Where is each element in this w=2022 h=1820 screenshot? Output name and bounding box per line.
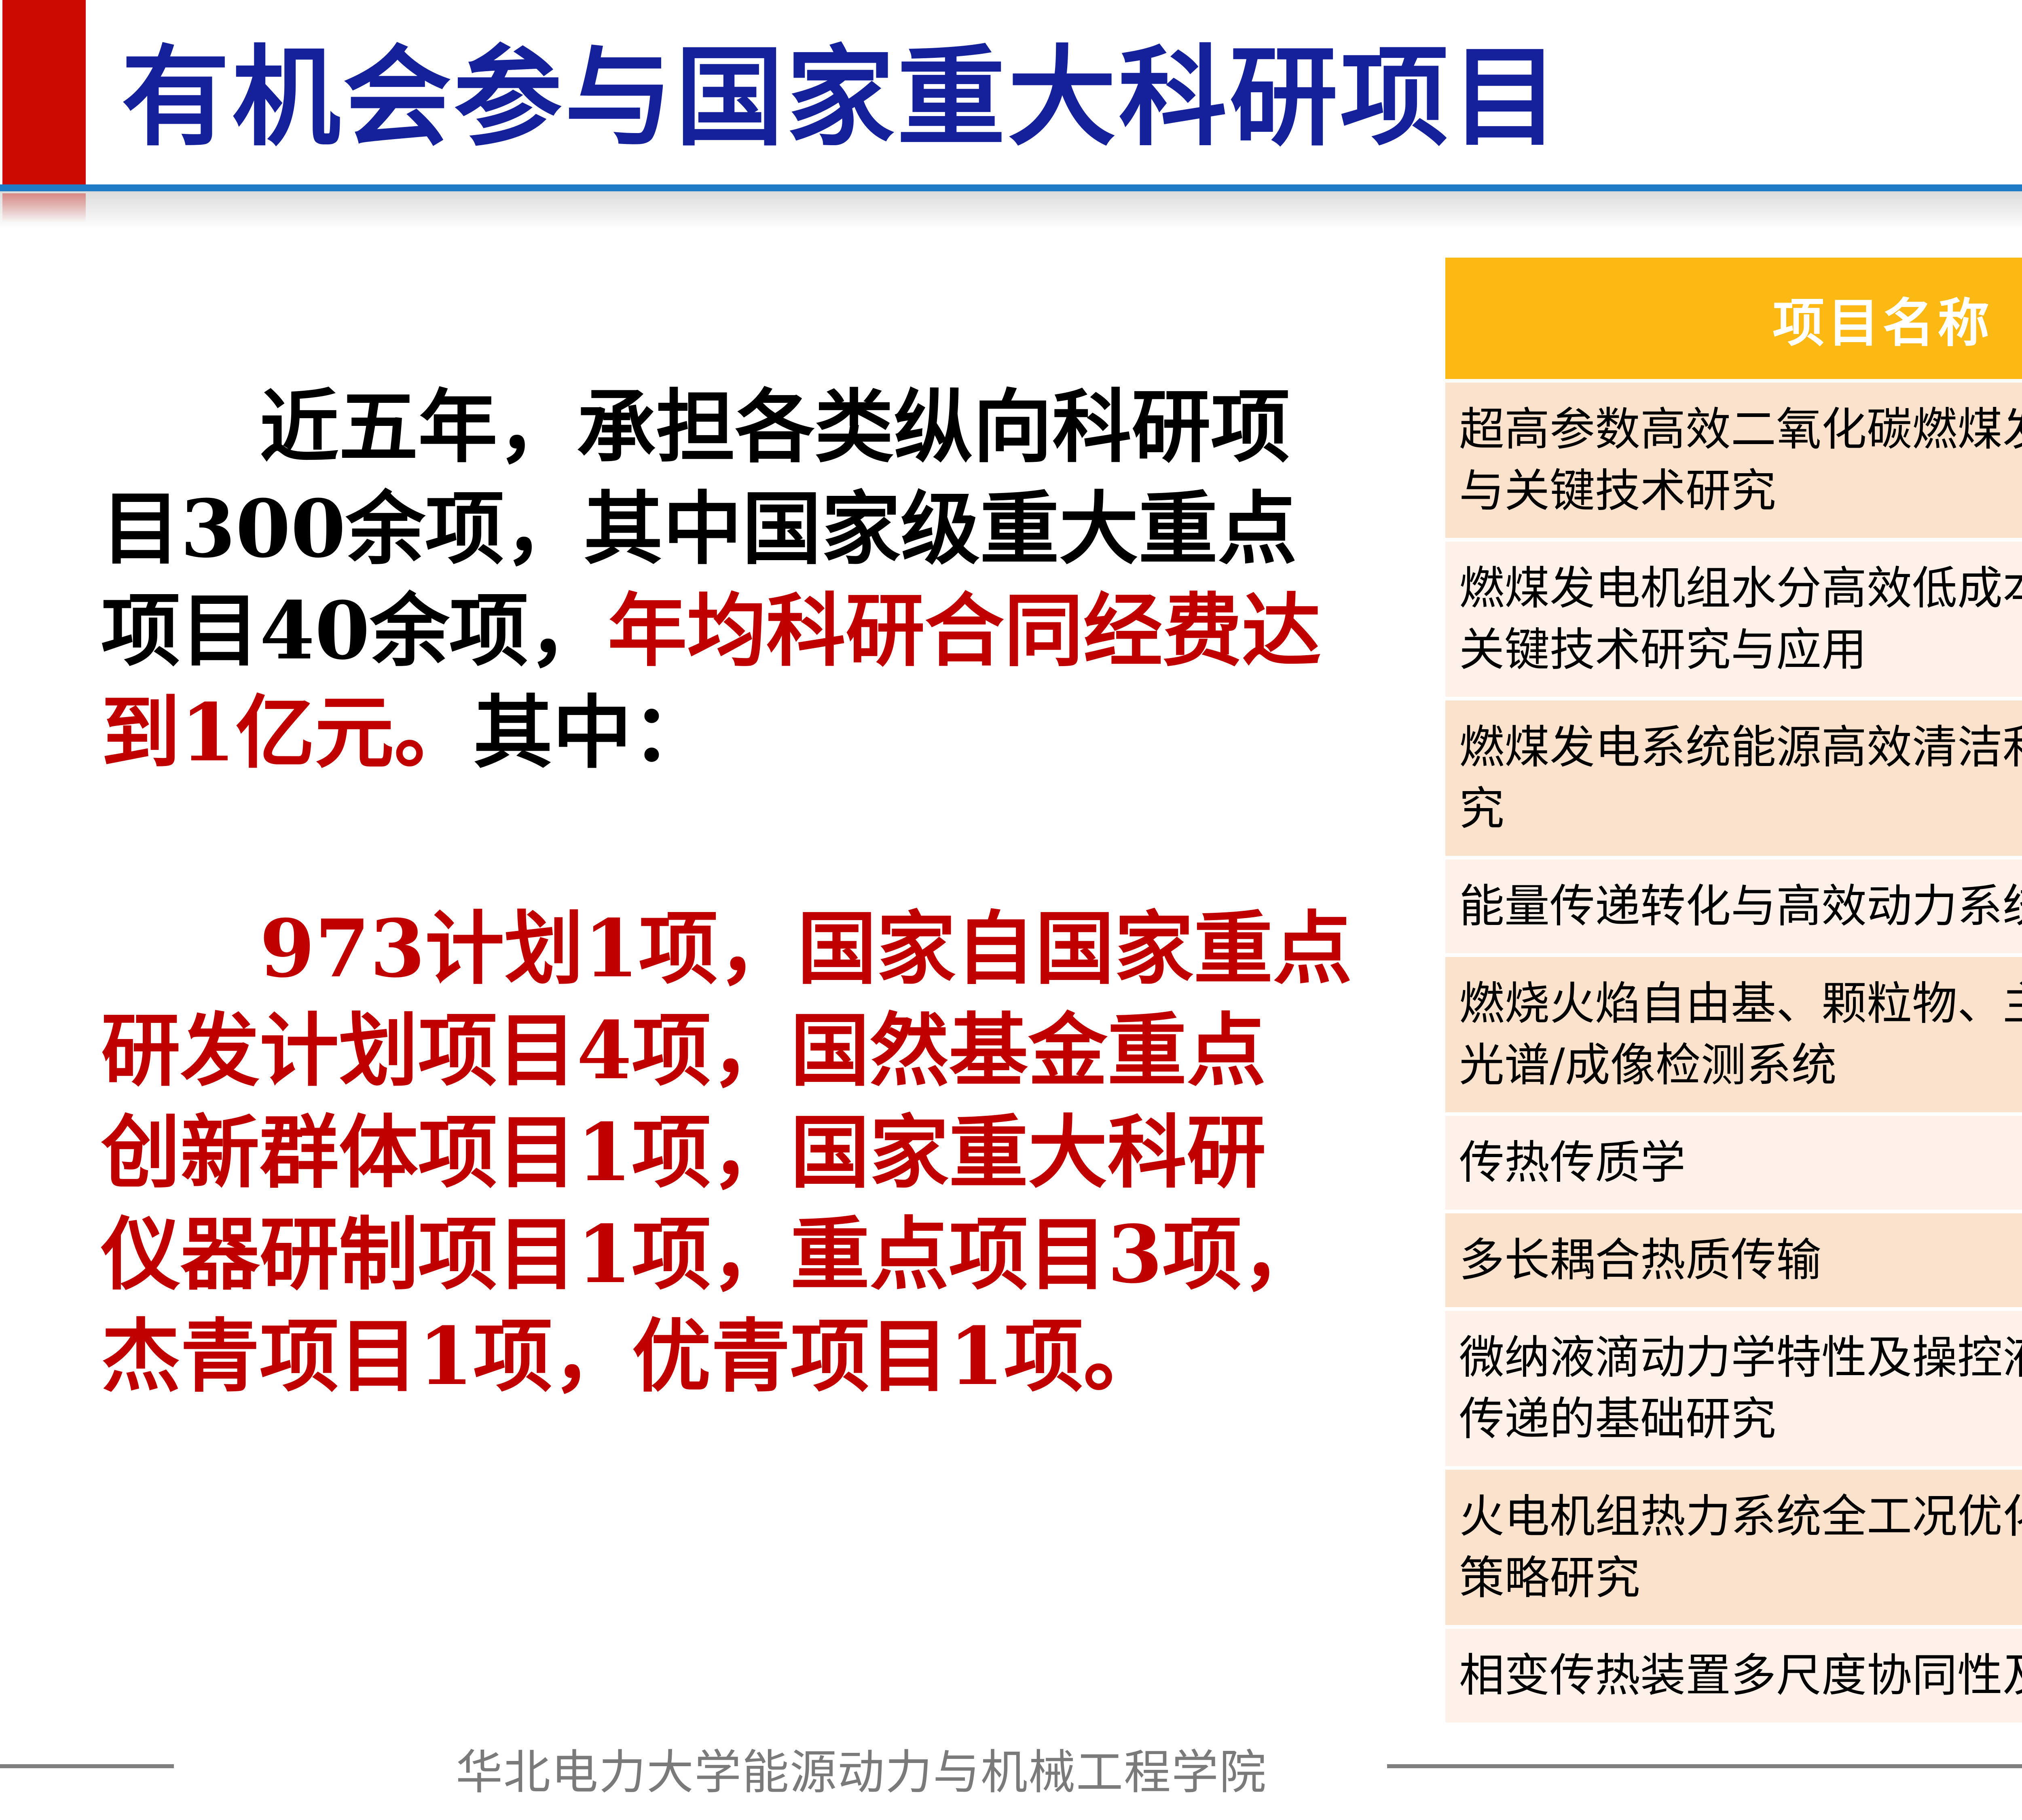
slide-footer: 华北电力大学能源动力与机械工程学院 Page.28 <box>0 1715 2022 1820</box>
summary-p2-line-3: 创新群体项目1项，国家重大科研 <box>101 1102 1352 1204</box>
summary-p1-line-1-run-1: 近五年，承担各类纵向科研项 <box>101 381 1290 474</box>
header-accent-bar <box>2 0 86 185</box>
cell-project-name: 燃煤发电机组水分高效低成本回收及处理关键技术研究与应用 <box>1445 542 2022 697</box>
summary-p2-line-4: 仪器研制项目1项，重点项目3项， <box>101 1204 1352 1306</box>
cell-project-name: 火电机组热力系统全工况优化与能耗控制策略研究 <box>1445 1470 2022 1625</box>
summary-p1-line-4-run-1: 到1亿元。 <box>101 686 473 779</box>
table-row: 相变传热装置多尺度协同性及构造重点项目徐进良 <box>1445 1629 2022 1723</box>
summary-p2-line-4-run-1: 仪器研制项目1项，重点项目3项， <box>101 1208 1321 1301</box>
cell-project-name: 燃烧火焰自由基、颗粒物、主要气态产物光谱/成像检测系统 <box>1445 957 2022 1112</box>
summary-paragraph-one: 近五年，承担各类纵向科研项目300余项，其中国家级重大重点项目40余项，年均科研… <box>101 376 1321 784</box>
summary-p1-line-3-run-2: 年均科研合同经费达 <box>608 584 1321 677</box>
major-projects-table: 项目名称 项目类型 负责人 超高参数高效二氧化碳燃煤发电基础理论与关键技术研究国… <box>1442 254 2022 1726</box>
table-row: 能量传递转化与高效动力系统基金群体杨勇平 <box>1445 859 2022 953</box>
cell-project-name: 相变传热装置多尺度协同性及构造 <box>1445 1629 2022 1723</box>
summary-p1-line-3-run-1: 项目40余项， <box>101 584 608 677</box>
summary-p1-line-3: 项目40余项，年均科研合同经费达 <box>101 580 1321 682</box>
cell-project-name: 传热传质学 <box>1445 1116 2022 1210</box>
summary-p2-line-5: 杰青项目1项，优青项目1项。 <box>101 1306 1352 1407</box>
summary-p2-line-3-run-1: 创新群体项目1项，国家重大科研 <box>101 1106 1266 1199</box>
summary-text-panel: 近五年，承担各类纵向科研项目300余项，其中国家级重大重点项目40余项，年均科研… <box>101 376 1387 1581</box>
footer-rule-middle <box>1387 1764 2022 1768</box>
table-header-row: 项目名称 项目类型 负责人 <box>1445 258 2022 379</box>
cell-project-name: 超高参数高效二氧化碳燃煤发电基础理论与关键技术研究 <box>1445 383 2022 538</box>
table-row: 超高参数高效二氧化碳燃煤发电基础理论与关键技术研究国家重点研发计划徐进良 <box>1445 383 2022 538</box>
table-row: 燃烧火焰自由基、颗粒物、主要气态产物光谱/成像检测系统国家重大科研仪器研制项目周… <box>1445 957 2022 1112</box>
summary-paragraph-two: 973计划1项，国家自国家重点研发计划项目4项，国然基金重点创新群体项目1项，国… <box>101 898 1352 1407</box>
summary-p2-line-1: 973计划1项，国家自国家重点 <box>101 898 1352 1000</box>
summary-p1-line-2-run-1: 目300余项，其中国家级重大重点 <box>101 483 1297 576</box>
summary-p2-line-2-run-1: 研发计划项目4项，国然基金重点 <box>101 1004 1266 1097</box>
header-divider-rule <box>0 184 2022 191</box>
cell-project-name: 微纳液滴动力学特性及操控液滴强化热质传递的基础研究 <box>1445 1311 2022 1466</box>
table-body: 超高参数高效二氧化碳燃煤发电基础理论与关键技术研究国家重点研发计划徐进良燃煤发电… <box>1445 383 2022 1723</box>
table-row: 多长耦合热质传输国家优青徐超 <box>1445 1213 2022 1307</box>
cell-project-name: 能量传递转化与高效动力系统 <box>1445 859 2022 953</box>
slide-header: 有机会参与国家重大科研项目 1858 NORTH CHINA ELECTRIC … <box>0 0 2022 190</box>
summary-p2-line-1-run-1: 973计划1项，国家自国家重点 <box>101 902 1352 995</box>
summary-p1-line-1: 近五年，承担各类纵向科研项 <box>101 376 1321 478</box>
summary-p2-line-5-run-1: 杰青项目1项，优青项目1项。 <box>101 1310 1163 1403</box>
table-row: 微纳液滴动力学特性及操控液滴强化热质传递的基础研究重点项目王晓东 <box>1445 1311 2022 1466</box>
summary-p1-line-2: 目300余项，其中国家级重大重点 <box>101 478 1321 580</box>
table-row: 火电机组热力系统全工况优化与能耗控制策略研究重点项目杨勇平 <box>1445 1470 2022 1625</box>
summary-p2-line-2: 研发计划项目4项，国然基金重点 <box>101 1000 1352 1102</box>
summary-p1-line-4: 到1亿元。其中： <box>101 682 1321 784</box>
table-row: 传热传质学国家杰青王晓东 <box>1445 1116 2022 1210</box>
cell-project-name: 燃煤发电系统能源高效清洁利用的基础研究 <box>1445 700 2022 856</box>
footer-organization: 华北电力大学能源动力与机械工程学院 <box>396 1734 1326 1802</box>
table-row: 燃煤发电系统能源高效清洁利用的基础研究国家973计划杨勇平 <box>1445 700 2022 856</box>
header-accent-reflection <box>2 193 86 222</box>
footer-rule-left <box>0 1764 174 1768</box>
header-reflection <box>0 191 2022 230</box>
cell-project-name: 多长耦合热质传输 <box>1445 1213 2022 1307</box>
summary-p1-line-4-run-2: 其中： <box>473 686 711 779</box>
page-title: 有机会参与国家重大科研项目 <box>121 25 1618 171</box>
column-header-project-name: 项目名称 <box>1445 258 2022 379</box>
table-row: 燃煤发电机组水分高效低成本回收及处理关键技术研究与应用国家重点研发计划陈海平 <box>1445 542 2022 697</box>
